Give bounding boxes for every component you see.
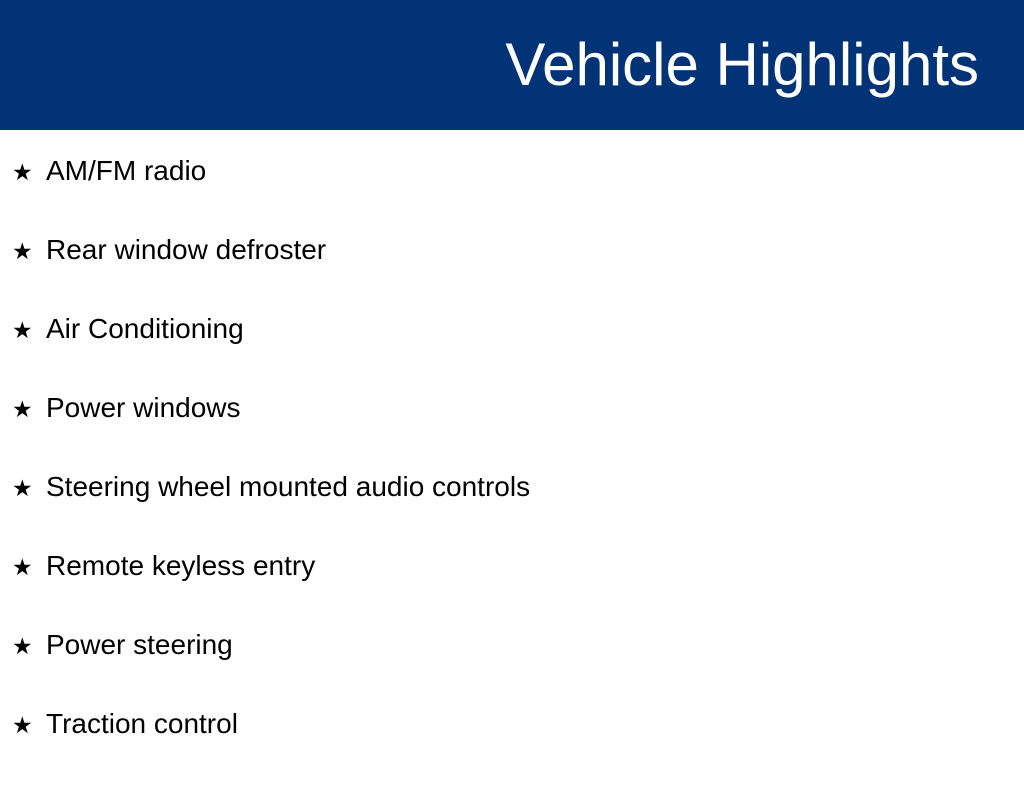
feature-label: Traction control (46, 710, 238, 738)
feature-label: Remote keyless entry (46, 552, 315, 580)
feature-label: Rear window defroster (46, 236, 326, 264)
star-bullet-icon: ★ (12, 399, 46, 422)
list-item: ★ Power steering (0, 631, 1024, 710)
star-bullet-icon: ★ (12, 715, 46, 738)
star-bullet-icon: ★ (12, 557, 46, 580)
feature-label: Power steering (46, 631, 233, 659)
page-title: Vehicle Highlights (505, 35, 1024, 95)
feature-label: Power windows (46, 394, 241, 422)
list-item: ★ AM/FM radio (0, 130, 1024, 236)
vehicle-features-list: ★ AM/FM radio ★ Rear window defroster ★ … (0, 130, 1024, 768)
star-bullet-icon: ★ (12, 241, 46, 264)
feature-label: AM/FM radio (46, 157, 206, 185)
list-item: ★ Steering wheel mounted audio controls (0, 473, 1024, 552)
star-bullet-icon: ★ (12, 478, 46, 501)
list-item: ★ Air Conditioning (0, 315, 1024, 394)
vehicle-highlights-slide: Vehicle Highlights ★ AM/FM radio ★ Rear … (0, 0, 1024, 768)
list-item: ★ Traction control (0, 710, 1024, 789)
list-item: ★ Rear window defroster (0, 236, 1024, 315)
slide-header-banner: Vehicle Highlights (0, 0, 1024, 130)
feature-label: Air Conditioning (46, 315, 244, 343)
list-item: ★ Power windows (0, 394, 1024, 473)
list-item: ★ Remote keyless entry (0, 552, 1024, 631)
star-bullet-icon: ★ (12, 320, 46, 343)
feature-label: Steering wheel mounted audio controls (46, 473, 530, 501)
star-bullet-icon: ★ (12, 636, 46, 659)
star-bullet-icon: ★ (12, 162, 46, 185)
